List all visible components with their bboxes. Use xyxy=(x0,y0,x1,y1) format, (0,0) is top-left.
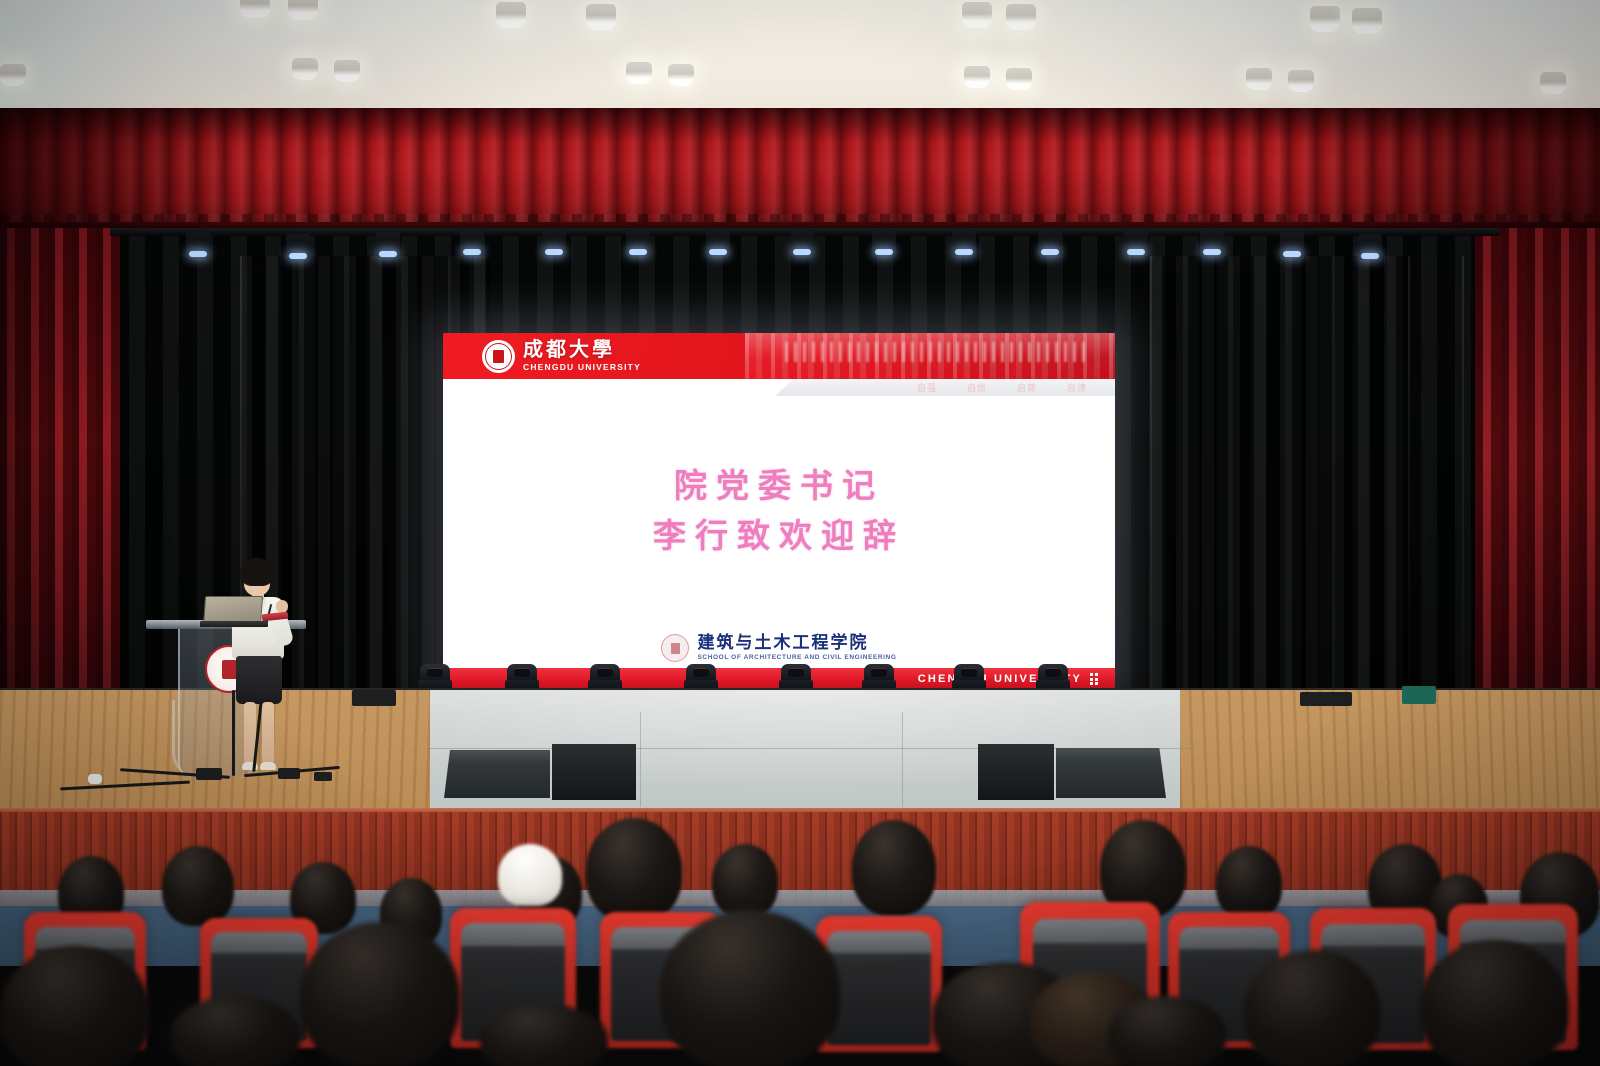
stage-floor-monitor xyxy=(444,750,550,798)
audience-head xyxy=(300,922,460,1066)
ceiling-downlight xyxy=(334,60,360,82)
stage-spotlight xyxy=(952,230,976,256)
stage-spotlight xyxy=(460,230,484,256)
stage-floor-box xyxy=(278,768,300,779)
ceiling-downlight xyxy=(1310,6,1340,32)
school-name-cn: 建筑与土木工程学院 xyxy=(697,635,896,652)
ceiling-downlight xyxy=(0,64,26,86)
audience-head xyxy=(712,844,778,918)
floor-seam xyxy=(640,712,641,807)
audience-head xyxy=(170,996,300,1066)
drape-seam xyxy=(1462,256,1464,756)
ceiling-downlight xyxy=(1540,72,1566,94)
ceiling-downlight xyxy=(1246,68,1272,90)
chengdu-university-seal-icon xyxy=(482,340,515,373)
presenter xyxy=(226,558,296,776)
decorative-dots-icon xyxy=(1090,673,1099,685)
campus-photo-overlay xyxy=(745,333,1115,379)
stage-spotlight xyxy=(286,234,310,260)
audience-head xyxy=(1244,950,1380,1066)
ceiling-downlight xyxy=(292,58,318,80)
ceiling-downlight xyxy=(962,2,992,28)
audience-head-white-cap xyxy=(498,844,562,906)
stage-spotlight xyxy=(790,230,814,256)
nav-item-2[interactable]: 自尊 xyxy=(1017,381,1037,394)
slide-body: 院党委书记 李行致欢迎辞 xyxy=(443,396,1115,626)
ceiling-downlight xyxy=(288,0,318,20)
presenter-hair xyxy=(240,558,274,586)
ceiling-downlight xyxy=(626,62,652,84)
ceiling-downlight xyxy=(1288,70,1314,92)
floor-seam xyxy=(902,712,903,807)
nav-item-0[interactable]: 自强 xyxy=(917,381,937,394)
school-name-en: SCHOOL OF ARCHITECTURE AND CIVIL ENGINEE… xyxy=(697,655,896,662)
audience-head xyxy=(1108,996,1226,1066)
valance-shading-right xyxy=(1280,108,1600,234)
floor-object-white xyxy=(88,774,102,784)
laptop-keyboard[interactable] xyxy=(200,621,268,627)
auditorium-scene: 成都大學 CHENGDU UNIVERSITY 自强 自信 自尊 自律 院党委书… xyxy=(0,0,1600,1066)
ceiling-downlight xyxy=(496,2,526,28)
school-seal-icon xyxy=(661,634,689,662)
drape-seam xyxy=(1408,256,1410,756)
ceiling-downlight xyxy=(964,66,990,88)
slide-nav-bar[interactable]: 自强 自信 自尊 自律 xyxy=(775,379,1115,396)
audience-head xyxy=(852,820,936,916)
stage-equipment-case xyxy=(1300,692,1352,706)
ceiling-downlight xyxy=(1006,4,1036,30)
stage-spotlight xyxy=(872,230,896,256)
nav-item-3[interactable]: 自律 xyxy=(1067,381,1087,394)
stage-floor-monitor xyxy=(552,744,636,800)
ceiling-downlight xyxy=(586,4,616,30)
slide-title-line-2: 李行致欢迎辞 xyxy=(653,512,905,560)
stage-floor-wood-right xyxy=(1180,690,1600,820)
stage-spotlight xyxy=(1358,234,1382,260)
stage-floor-monitor xyxy=(1056,748,1166,798)
led-presentation-screen[interactable]: 成都大學 CHENGDU UNIVERSITY 自强 自信 自尊 自律 院党委书… xyxy=(443,333,1115,690)
university-wordmark: 成都大學 CHENGDU UNIVERSITY xyxy=(523,339,641,372)
stage-spotlight xyxy=(1124,230,1148,256)
audience-head xyxy=(586,818,682,922)
audience-head xyxy=(480,1004,608,1066)
ceiling-downlight xyxy=(1352,8,1382,34)
stage-spotlight xyxy=(376,232,400,258)
audience-head xyxy=(1216,846,1282,920)
curtain-leg-right xyxy=(1475,228,1600,768)
stage-spotlight xyxy=(1280,232,1304,258)
stage-spotlight xyxy=(626,230,650,256)
stage-spotlight xyxy=(706,230,730,256)
stage-floor-box xyxy=(196,768,222,780)
drape-panel xyxy=(1150,256,1410,756)
stage-equipment-case xyxy=(352,690,396,706)
stage-floor-monitor xyxy=(978,744,1054,800)
stage-spotlight xyxy=(542,230,566,256)
stage-equipment-case xyxy=(1402,686,1436,704)
slide-header-band: 成都大學 CHENGDU UNIVERSITY xyxy=(443,333,1115,379)
nav-item-1[interactable]: 自信 xyxy=(967,381,987,394)
audience-head xyxy=(0,946,150,1066)
ceiling-downlight xyxy=(668,64,694,86)
audience-head xyxy=(660,910,840,1066)
stage-spotlight xyxy=(1038,230,1062,256)
audience-head xyxy=(1420,940,1568,1066)
curtain-leg-left-shading xyxy=(0,228,58,758)
audience-head xyxy=(162,846,234,926)
stage-floor-box xyxy=(314,772,332,781)
stage-spotlight xyxy=(186,232,210,258)
drape-seam xyxy=(1150,256,1152,756)
floor-cable xyxy=(232,690,235,776)
valance-shading-left xyxy=(0,108,240,234)
slide-title-line-1: 院党委书记 xyxy=(674,462,884,510)
university-name-en: CHENGDU UNIVERSITY xyxy=(523,363,641,372)
stage-spotlight xyxy=(1200,230,1224,256)
ceiling-downlight xyxy=(1006,68,1032,90)
ceiling-downlight xyxy=(240,0,270,18)
university-name-cn: 成都大學 xyxy=(523,339,641,359)
